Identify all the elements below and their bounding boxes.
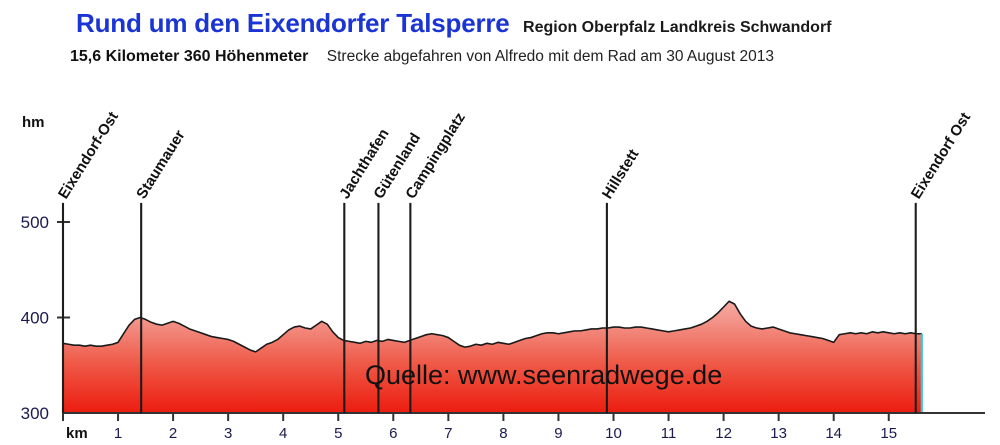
- x-tick-label: 1: [114, 425, 122, 442]
- x-tick-label: 2: [169, 425, 177, 442]
- x-tick-label: 13: [770, 425, 787, 442]
- x-tick-label: 9: [554, 425, 562, 442]
- waypoint-label: Eixendorf Ost: [908, 110, 975, 202]
- x-tick-label: 6: [389, 425, 397, 442]
- header-title-row: Rund um den Eixendorfer Talsperre Region…: [76, 8, 832, 39]
- route-description: Strecke abgefahren von Alfredo mit dem R…: [327, 48, 774, 65]
- x-tick-label: 4: [279, 425, 287, 442]
- waypoint-label: Eixendorf-Ost: [55, 109, 122, 202]
- elevation-area: [63, 301, 922, 413]
- x-tick-label: 5: [334, 425, 342, 442]
- x-tick-label: 10: [605, 425, 622, 442]
- elevation-chart-svg: 300400500 km123456789101112131415 hm Eix…: [0, 95, 1000, 445]
- waypoint-label: Staumauer: [133, 127, 189, 202]
- region-subtitle: Region Oberpfalz Landkreis Schwandorf: [523, 19, 832, 36]
- x-tick-label: 14: [825, 425, 842, 442]
- waypoint-label: Hillstett: [599, 146, 643, 202]
- route-stats: 15,6 Kilometer 360 Höhenmeter: [70, 48, 308, 65]
- source-watermark: Quelle: www.seenradwege.de: [365, 360, 722, 390]
- elevation-chart: 300400500 km123456789101112131415 hm Eix…: [0, 95, 1000, 445]
- y-tick-label: 500: [21, 213, 49, 232]
- elevation-profile-page: Rund um den Eixendorfer Talsperre Region…: [0, 0, 1000, 445]
- x-axis-ticks: km123456789101112131415: [63, 413, 897, 442]
- x-tick-label: 12: [715, 425, 732, 442]
- x-tick-label: 7: [444, 425, 452, 442]
- y-axis-unit-label: hm: [22, 114, 45, 131]
- x-tick-label: 11: [661, 425, 677, 442]
- y-tick-label: 300: [21, 404, 49, 423]
- x-tick-label: 15: [880, 425, 897, 442]
- header-stats-row: 15,6 Kilometer 360 Höhenmeter Strecke ab…: [70, 48, 774, 66]
- y-tick-label: 400: [21, 309, 49, 328]
- page-title: Rund um den Eixendorfer Talsperre: [76, 8, 510, 38]
- x-tick-label: 8: [499, 425, 507, 442]
- x-axis-unit-label: km: [66, 425, 88, 442]
- x-tick-label: 3: [224, 425, 232, 442]
